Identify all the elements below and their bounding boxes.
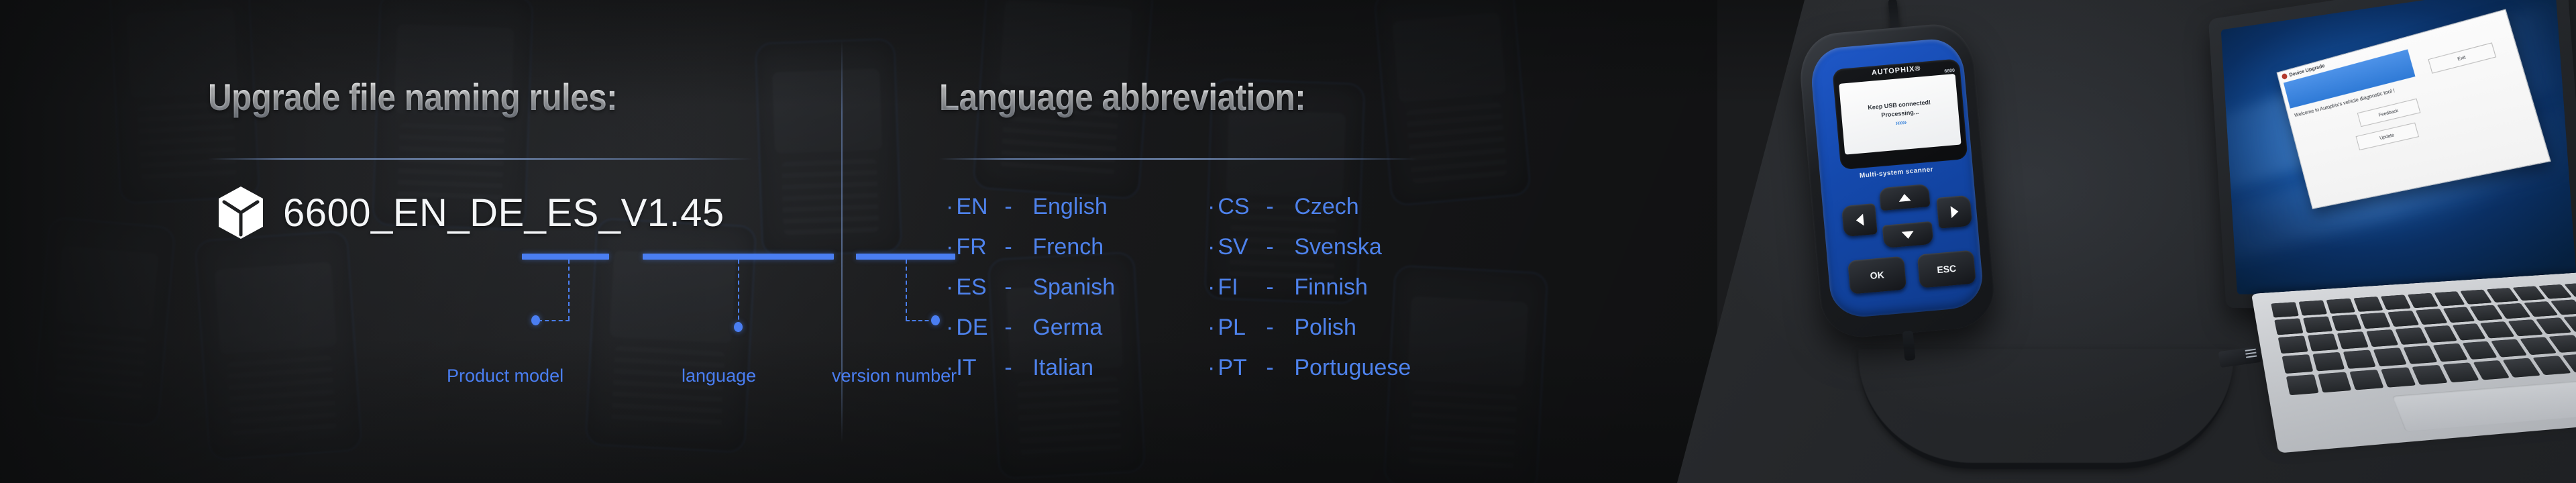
bullet-icon: · bbox=[1207, 347, 1215, 388]
scanner-lcd-screen: Keep USB connected! Processing... ›››››› bbox=[1839, 74, 1962, 155]
leader-line-version bbox=[906, 260, 907, 320]
language-name: Czech bbox=[1294, 186, 1358, 227]
language-name: English bbox=[1032, 186, 1108, 227]
keyboard-key bbox=[2415, 309, 2447, 325]
scanner-progress-arrows-icon: ›››››› bbox=[1895, 119, 1907, 127]
language-name: Italian bbox=[1032, 347, 1093, 388]
caption-language: language bbox=[682, 366, 756, 386]
cube-icon bbox=[216, 185, 266, 240]
language-name: Svenska bbox=[1294, 227, 1381, 267]
keyboard-key bbox=[2318, 372, 2351, 392]
language-code: SV bbox=[1218, 227, 1266, 267]
scanner-esc-button[interactable]: ESC bbox=[1917, 250, 1976, 288]
leader-dot-version bbox=[931, 315, 940, 325]
keyboard-key bbox=[2373, 347, 2406, 366]
keyboard-key bbox=[2403, 345, 2437, 364]
keyboard-key bbox=[2443, 362, 2479, 382]
scanner-right-button[interactable] bbox=[1936, 195, 1972, 229]
scanner-model-label: 6600 bbox=[1944, 68, 1955, 74]
keyboard-key bbox=[2274, 318, 2303, 335]
keyboard-key bbox=[2331, 315, 2361, 331]
keyboard-key bbox=[2461, 290, 2493, 305]
laptop-base bbox=[2251, 268, 2576, 453]
language-code: DE bbox=[956, 307, 1004, 347]
language-code: CS bbox=[1218, 186, 1266, 227]
list-item: · ES - Spanish bbox=[946, 267, 1201, 307]
laptop-lid: Device Upgrade Welcome to Autophix's veh… bbox=[2208, 0, 2576, 311]
language-dash: - bbox=[1004, 186, 1032, 227]
leader-dot-product-model bbox=[531, 315, 540, 325]
list-item: · IT - Italian bbox=[946, 347, 1201, 388]
app-logo-icon bbox=[2282, 73, 2288, 80]
list-item: · SV - Svenska bbox=[1207, 227, 1411, 267]
keyboard-key bbox=[2349, 370, 2383, 390]
filename-row: 6600_EN_DE_ES_V1.45 bbox=[216, 185, 724, 240]
keyboard-key bbox=[2387, 311, 2419, 327]
laptop-trackpad bbox=[2392, 377, 2576, 432]
keyboard-key bbox=[2308, 333, 2339, 352]
keyboard-key bbox=[2412, 365, 2447, 385]
filename-text: 6600_EN_DE_ES_V1.45 bbox=[283, 191, 724, 235]
list-item: · DE - Germa bbox=[946, 307, 1201, 347]
naming-rules-title: Upgrade file naming rules: bbox=[208, 75, 617, 119]
language-dash: - bbox=[1266, 227, 1294, 267]
keyboard-key bbox=[2303, 316, 2332, 333]
arrow-up-icon bbox=[1898, 193, 1911, 202]
language-abbreviation-underline bbox=[939, 158, 1417, 160]
leader-dot-language bbox=[734, 322, 743, 332]
obd-scanner-device: AUTOPHIX® 6600 Keep USB connected! Proce… bbox=[1797, 21, 1998, 341]
language-dash: - bbox=[1004, 307, 1032, 347]
keyboard-key bbox=[2343, 350, 2376, 368]
keyboard-key bbox=[2395, 327, 2428, 345]
scanner-ok-button[interactable]: OK bbox=[1847, 256, 1907, 294]
arrow-down-icon bbox=[1902, 231, 1915, 239]
language-name: Spanish bbox=[1032, 267, 1115, 307]
keyboard-key bbox=[2353, 297, 2383, 312]
caption-version-number: version number bbox=[832, 366, 957, 386]
segment-bar-version bbox=[856, 254, 955, 260]
language-code: PL bbox=[1218, 307, 1266, 347]
bullet-icon: · bbox=[1207, 267, 1215, 307]
language-code: EN bbox=[956, 186, 1004, 227]
language-name: Germa bbox=[1032, 307, 1102, 347]
dialog-update-button[interactable]: Update bbox=[2356, 123, 2419, 150]
keyboard-key bbox=[2278, 335, 2308, 354]
keyboard-key bbox=[2443, 307, 2475, 323]
keyboard-key bbox=[2452, 323, 2486, 341]
keyboard-key bbox=[2380, 294, 2410, 310]
keyboard-key bbox=[2282, 354, 2313, 374]
language-code: FR bbox=[956, 227, 1004, 267]
arrow-right-icon bbox=[1950, 205, 1959, 218]
arrow-left-icon bbox=[1856, 214, 1864, 227]
scanner-keypad: OK ESC bbox=[1837, 180, 1986, 312]
dialog-exit-button[interactable]: Exit bbox=[2428, 42, 2496, 73]
naming-rules-underline bbox=[208, 158, 753, 160]
bullet-icon: · bbox=[946, 347, 953, 388]
keyboard-key bbox=[2312, 352, 2345, 372]
caption-product-model: Product model bbox=[447, 366, 563, 386]
bullet-icon: · bbox=[946, 186, 953, 227]
upgrade-info-banner: AUTOPHIX® 6600 Keep USB connected! Proce… bbox=[0, 0, 2576, 483]
keyboard-key bbox=[2366, 329, 2398, 347]
language-dash: - bbox=[1266, 347, 1294, 388]
keyboard-key bbox=[2424, 325, 2457, 343]
language-name: Portuguese bbox=[1294, 347, 1411, 388]
keyboard-key bbox=[2434, 291, 2465, 306]
scanner-down-button[interactable] bbox=[1882, 221, 1934, 248]
laptop-screen: Device Upgrade Welcome to Autophix's veh… bbox=[2221, 0, 2576, 294]
bullet-icon: · bbox=[946, 267, 953, 307]
bullet-icon: · bbox=[1207, 186, 1215, 227]
keyboard-key bbox=[2359, 313, 2390, 329]
keyboard-key bbox=[2407, 293, 2438, 309]
language-dash: - bbox=[1266, 186, 1294, 227]
leader-line-product-model bbox=[568, 260, 570, 320]
language-code: FI bbox=[1218, 267, 1266, 307]
list-item: · FR - French bbox=[946, 227, 1201, 267]
language-dash: - bbox=[1004, 347, 1032, 388]
bullet-icon: · bbox=[946, 227, 953, 267]
keyboard-key bbox=[2271, 302, 2299, 317]
keyboard-key bbox=[2462, 341, 2498, 360]
keyboard-key bbox=[2432, 343, 2467, 362]
list-item: · EN - English bbox=[946, 186, 1201, 227]
language-code: PT bbox=[1218, 347, 1266, 388]
language-code: IT bbox=[956, 347, 1004, 388]
keyboard-key bbox=[2298, 300, 2327, 315]
language-list: · EN - English · CS - Czech · FR - Frenc… bbox=[946, 186, 1411, 388]
language-name: Finnish bbox=[1294, 267, 1368, 307]
segment-bar-product-model bbox=[522, 254, 609, 260]
list-item: · PL - Polish bbox=[1207, 307, 1411, 347]
list-item: · FI - Finnish bbox=[1207, 267, 1411, 307]
bullet-icon: · bbox=[1207, 227, 1215, 267]
laptop-keyboard bbox=[2271, 279, 2576, 395]
language-name: French bbox=[1032, 227, 1104, 267]
keyboard-key bbox=[2337, 331, 2369, 349]
keyboard-key bbox=[2381, 367, 2416, 387]
bullet-icon: · bbox=[946, 307, 953, 347]
scanner-up-button[interactable] bbox=[1879, 184, 1931, 211]
laptop: Device Upgrade Welcome to Autophix's veh… bbox=[2167, 0, 2576, 483]
language-dash: - bbox=[1004, 227, 1032, 267]
language-dash: - bbox=[1266, 307, 1294, 347]
bullet-icon: · bbox=[1207, 307, 1215, 347]
language-code: ES bbox=[956, 267, 1004, 307]
leader-line-language bbox=[738, 260, 739, 327]
language-name: Polish bbox=[1294, 307, 1356, 347]
keyboard-key bbox=[2286, 374, 2319, 395]
list-item: · CS - Czech bbox=[1207, 186, 1411, 227]
scanner-left-button[interactable] bbox=[1841, 203, 1878, 237]
leader-elbow-product-model bbox=[538, 320, 570, 321]
keyboard-key bbox=[2326, 299, 2355, 314]
scanner-screen-bezel: AUTOPHIX® 6600 Keep USB connected! Proce… bbox=[1832, 58, 1968, 170]
language-dash: - bbox=[1004, 267, 1032, 307]
segment-bar-language bbox=[643, 254, 834, 260]
info-content: Upgrade file naming rules: 6600_EN_DE_ES… bbox=[0, 0, 1610, 483]
language-dash: - bbox=[1266, 267, 1294, 307]
scanner-front-face: AUTOPHIX® 6600 Keep USB connected! Proce… bbox=[1809, 37, 1985, 319]
language-abbreviation-title: Language abbreviation: bbox=[939, 75, 1305, 119]
list-item: · PT - Portuguese bbox=[1207, 347, 1411, 388]
scanner-lcd-line-2: Processing... bbox=[1881, 109, 1919, 119]
